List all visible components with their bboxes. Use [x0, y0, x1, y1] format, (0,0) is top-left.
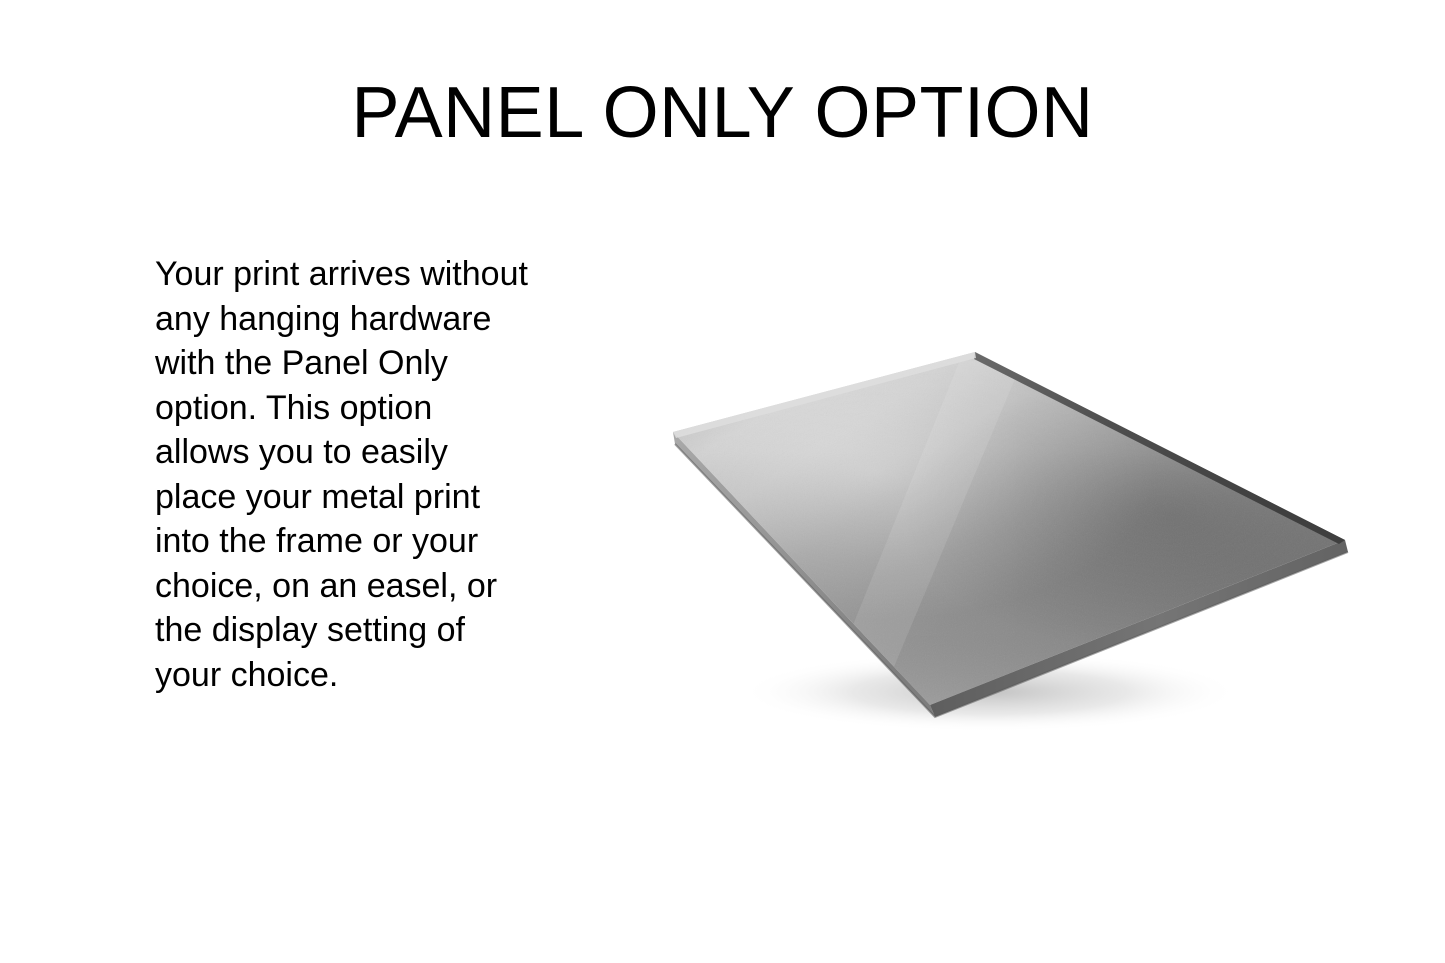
body-paragraph: Your print arrives without any hanging h… — [155, 252, 585, 697]
slide-canvas: PANEL ONLY OPTION Your print arrives wit… — [0, 0, 1445, 963]
metal-panel-figure — [630, 320, 1390, 750]
metal-panel-illustration — [630, 320, 1390, 750]
page-title: PANEL ONLY OPTION — [0, 74, 1445, 152]
panel-grain — [673, 352, 1345, 705]
